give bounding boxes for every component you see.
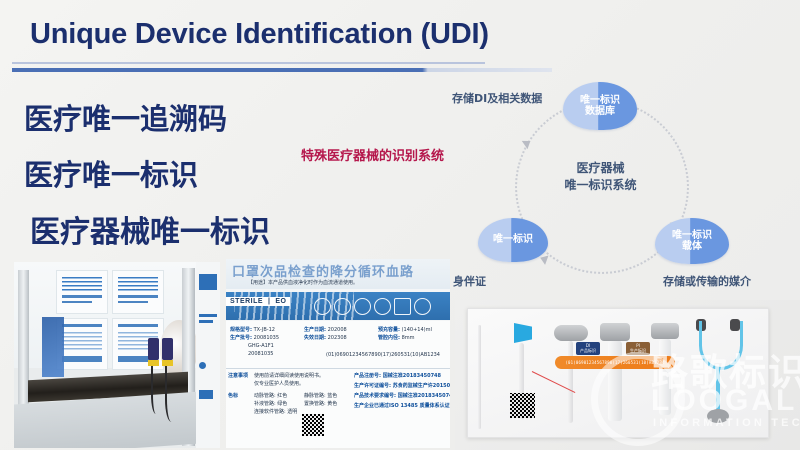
stethoscope-chestpiece: [707, 409, 729, 423]
label-field-model: 规格型号: TX-JB-12: [230, 327, 275, 335]
label-field-priming-volume: 预充容量: (140+14)ml: [378, 327, 432, 335]
ophthalmoscope-head: [651, 323, 679, 339]
diagram-center-label: 医疗器械 唯一标识系统: [528, 160, 673, 195]
grey-hammer-handle: [568, 341, 573, 423]
sensor-head: [162, 338, 173, 360]
label-divider: [226, 368, 450, 369]
label-data-area: 规格型号: TX-JB-12 生产批号: 20081035 GHG-A1F1 2…: [226, 321, 450, 448]
caution-triangle-icon: [394, 298, 411, 315]
headline-line-2: 医疗唯一标识: [24, 152, 198, 194]
do-not-reuse-icon: [314, 298, 331, 315]
cloud-top-label-1: 唯一标识: [580, 95, 620, 107]
label-registration-4: 生产企业已通过ISO 13485 质量体系认证: [354, 403, 450, 411]
single-use-icon: [374, 298, 391, 315]
probe-instrument: [478, 325, 481, 429]
label-legend-1: 动脉管路: 红色: [254, 393, 287, 401]
photo-instrument-tray: (01)06901234567890(17)260531(10)AB1234 D…: [455, 300, 800, 450]
sensor-cable: [165, 366, 181, 422]
headline-line-1: 医疗唯一追溯码: [24, 96, 227, 138]
caption-storage-medium: 存储或传输的媒介: [663, 273, 751, 289]
title-divider-accent: [12, 68, 552, 72]
cloud-top-label-2: 数据库: [580, 106, 620, 118]
label-note-1: 使用前请详细阅读使用说明书。: [254, 373, 324, 381]
center-line-2: 唯一标识系统: [528, 177, 673, 194]
stethoscope-stem: [716, 367, 720, 411]
cloud-right-label-1: 唯一标识: [672, 230, 712, 242]
label-legend-4: 置换管路: 黄色: [304, 401, 337, 409]
center-line-1: 医疗器械: [528, 160, 673, 177]
label-registration-3: 产品技术要求编号: 国械注准20183450748: [354, 393, 450, 401]
sensor-head: [148, 338, 159, 360]
page-title: Unique Device Identification (UDI): [30, 18, 489, 51]
tag-device-identifier: DI 产品标识: [576, 342, 600, 355]
photo-device-label: 口罩次品检查的降分循环血路 【用途】本产品供血液净化时作为血流通道使用。 STE…: [226, 259, 450, 448]
watermark-logo-icon: [591, 352, 685, 446]
label-legend-title: 色标: [228, 393, 238, 401]
package-sheet: [56, 270, 108, 314]
label-field-exp-date: 失效日期: 202308: [304, 335, 347, 343]
keep-dry-icon: [334, 298, 351, 315]
label-note-2: 仅专业医护人员使用。: [254, 381, 304, 389]
label-usage-note: 【用途】本产品供血液净化时作为血流通道使用。: [248, 279, 358, 286]
cloud-right-label-2: 载体: [672, 241, 712, 253]
cloud-left-label-1: 唯一标识: [493, 234, 533, 246]
title-divider-thin: [12, 62, 485, 64]
cloud-identifier-database: 唯一标识 数据库: [563, 82, 637, 130]
caption-id-card: 身伴证: [453, 273, 486, 289]
cloud-identifier-carrier: 唯一标识 载体: [655, 218, 729, 264]
stethoscope-tubing: [699, 321, 743, 370]
tag-di-line-2: 产品标识: [580, 349, 596, 353]
photo-label-printing-machine: [14, 262, 220, 448]
cloud-unique-identifier: 唯一标识: [478, 218, 548, 262]
udi-system-diagram: 医疗器械 唯一标识系统 唯一标识 数据库 唯一标识 唯一标识 载体 存储DI及相…: [450, 82, 795, 297]
package-sheet: [112, 270, 164, 314]
machine-side-panel: [196, 262, 220, 448]
label-field-mfg-date: 生产日期: 202008: [304, 327, 347, 335]
otoscope-head: [600, 323, 630, 341]
temperature-limit-icon: [414, 298, 431, 315]
udi-code-text: (01)06901234567890(17)260531(10)AB1234: [326, 352, 440, 360]
label-field-lot: 生产批号: 20081035: [230, 335, 279, 343]
label-registration-1: 产品注册号: 国械注准20183450748: [354, 373, 441, 381]
label-product-headline: 口罩次品检查的降分循环血路: [232, 261, 414, 280]
sterile-badge: STERILE | EO: [226, 297, 290, 306]
grey-hammer-head: [554, 325, 588, 341]
label-legend-5: 连接软件管路: 透明: [254, 409, 297, 417]
label-registration-2: 生产许可证编号: 苏食药监械生产许20150007号: [354, 383, 450, 391]
sterile-method-text: EO: [275, 298, 286, 305]
label-field-lumen-diameter: 管腔内径: 8mm: [378, 335, 415, 343]
label-field-code-b: 20081035: [248, 351, 273, 359]
label-legend-3: 补液管路: 绿色: [254, 401, 287, 409]
label-field-code-a: GHG-A1F1: [248, 343, 274, 351]
sensor-cable: [151, 366, 163, 414]
headline-line-3: 医疗器械唯一标识: [30, 207, 270, 251]
label-legend-2: 静脉管路: 蓝色: [304, 393, 337, 401]
do-not-resterilize-icon: [354, 298, 371, 315]
blue-fabric: [42, 317, 64, 377]
slide-canvas: Unique Device Identification (UDI) 医疗唯一追…: [0, 0, 800, 450]
caption-store-di-data: 存储DI及相关数据: [452, 90, 542, 106]
udi-qr-code: [510, 393, 535, 418]
blue-spatula-head: [514, 323, 532, 343]
label-notes-title: 注意事项: [228, 373, 248, 381]
udi-datamatrix-code: [302, 414, 324, 436]
sterile-badge-text: STERILE: [230, 298, 263, 305]
red-annotation: 特殊医疗器械的识别系统: [301, 145, 444, 164]
